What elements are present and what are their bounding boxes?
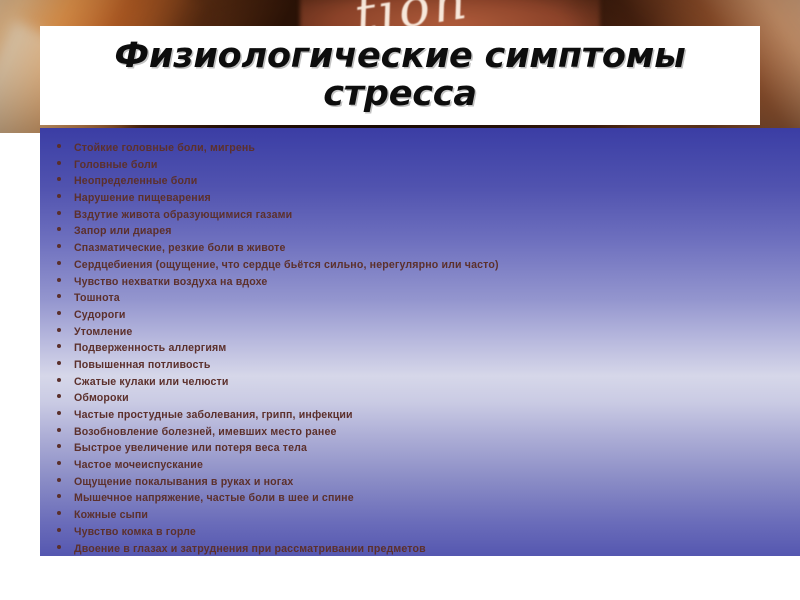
list-item-label: Чувство комка в горле [74, 524, 196, 541]
bullet-dot-icon [57, 144, 61, 148]
list-item: Двоение в глазах и затруднения при рассм… [40, 541, 800, 557]
list-item: Утомление [40, 324, 800, 341]
list-item-label: Частое мочеиспускание [74, 457, 203, 474]
bullet-dot-icon [57, 444, 61, 448]
bullet-dot-icon [57, 528, 61, 532]
list-item-label: Быстрое увеличение или потеря веса тела [74, 440, 307, 457]
list-item: Подверженность аллергиям [40, 340, 800, 357]
bullet-dot-icon [57, 511, 61, 515]
bullet-dot-icon [57, 311, 61, 315]
presentation-slide: tion Физиологические симптомы стресса Ст… [0, 0, 800, 600]
list-item: Повышенная потливость [40, 357, 800, 374]
list-item: Стойкие головные боли, мигрень [40, 140, 800, 157]
title-plate: Физиологические симптомы стресса [40, 26, 760, 125]
list-item: Частое мочеиспускание [40, 457, 800, 474]
list-item-label: Судороги [74, 307, 126, 324]
bullet-dot-icon [57, 378, 61, 382]
list-item-label: Подверженность аллергиям [74, 340, 226, 357]
list-item-label: Нарушение пищеварения [74, 190, 211, 207]
list-item-label: Повышенная потливость [74, 357, 211, 374]
list-item-label: Двоение в глазах и затруднения при рассм… [74, 541, 426, 557]
bullet-dot-icon [57, 394, 61, 398]
list-item: Кожные сыпи [40, 507, 800, 524]
list-item: Головные боли [40, 157, 800, 174]
bullet-dot-icon [57, 545, 61, 549]
list-item: Чувство нехватки воздуха на вдохе [40, 274, 800, 291]
list-item: Сжатые кулаки или челюсти [40, 374, 800, 391]
list-item-label: Запор или диарея [74, 223, 172, 240]
bullet-dot-icon [57, 461, 61, 465]
list-item: Нарушение пищеварения [40, 190, 800, 207]
list-item: Тошнота [40, 290, 800, 307]
list-item-label: Неопределенные боли [74, 173, 197, 190]
list-item: Ощущение покалывания в руках и ногах [40, 474, 800, 491]
list-item: Обмороки [40, 390, 800, 407]
list-item-label: Мышечное напряжение, частые боли в шее и… [74, 490, 354, 507]
list-item: Сердцебиения (ощущение, что сердце бьётс… [40, 257, 800, 274]
list-item-label: Сжатые кулаки или челюсти [74, 374, 229, 391]
list-item: Чувство комка в горле [40, 524, 800, 541]
bullet-dot-icon [57, 177, 61, 181]
list-item: Судороги [40, 307, 800, 324]
list-item-label: Спазматические, резкие боли в животе [74, 240, 286, 257]
list-item-label: Вздутие живота образующимися газами [74, 207, 292, 224]
bullet-dot-icon [57, 478, 61, 482]
bullet-dot-icon [57, 361, 61, 365]
slide-title: Физиологические симптомы стресса [54, 38, 746, 113]
bullet-dot-icon [57, 278, 61, 282]
bullet-dot-icon [57, 328, 61, 332]
list-item-label: Возобновление болезней, имевших место ра… [74, 424, 337, 441]
list-item-label: Кожные сыпи [74, 507, 148, 524]
list-item: Частые простудные заболевания, грипп, ин… [40, 407, 800, 424]
list-item-label: Ощущение покалывания в руках и ногах [74, 474, 293, 491]
list-item: Запор или диарея [40, 223, 800, 240]
list-item-label: Тошнота [74, 290, 120, 307]
list-item: Вздутие живота образующимися газами [40, 207, 800, 224]
content-panel: Стойкие головные боли, мигреньГоловные б… [40, 128, 800, 556]
list-item-label: Обмороки [74, 390, 129, 407]
bullet-dot-icon [57, 411, 61, 415]
list-item: Спазматические, резкие боли в животе [40, 240, 800, 257]
bullet-dot-icon [57, 494, 61, 498]
list-item-label: Стойкие головные боли, мигрень [74, 140, 255, 157]
list-item-label: Головные боли [74, 157, 157, 174]
bullet-dot-icon [57, 244, 61, 248]
bullet-dot-icon [57, 211, 61, 215]
bullet-dot-icon [57, 227, 61, 231]
bullet-dot-icon [57, 261, 61, 265]
list-item-label: Утомление [74, 324, 132, 341]
list-item: Возобновление болезней, имевших место ра… [40, 424, 800, 441]
bullet-dot-icon [57, 344, 61, 348]
bullet-dot-icon [57, 161, 61, 165]
list-item-label: Чувство нехватки воздуха на вдохе [74, 274, 267, 291]
list-item: Быстрое увеличение или потеря веса тела [40, 440, 800, 457]
symptom-list: Стойкие головные боли, мигреньГоловные б… [40, 128, 800, 556]
bullet-dot-icon [57, 194, 61, 198]
list-item-label: Частые простудные заболевания, грипп, ин… [74, 407, 353, 424]
list-item: Мышечное напряжение, частые боли в шее и… [40, 490, 800, 507]
list-item: Неопределенные боли [40, 173, 800, 190]
bullet-dot-icon [57, 428, 61, 432]
bullet-dot-icon [57, 294, 61, 298]
list-item-label: Сердцебиения (ощущение, что сердце бьётс… [74, 257, 499, 274]
